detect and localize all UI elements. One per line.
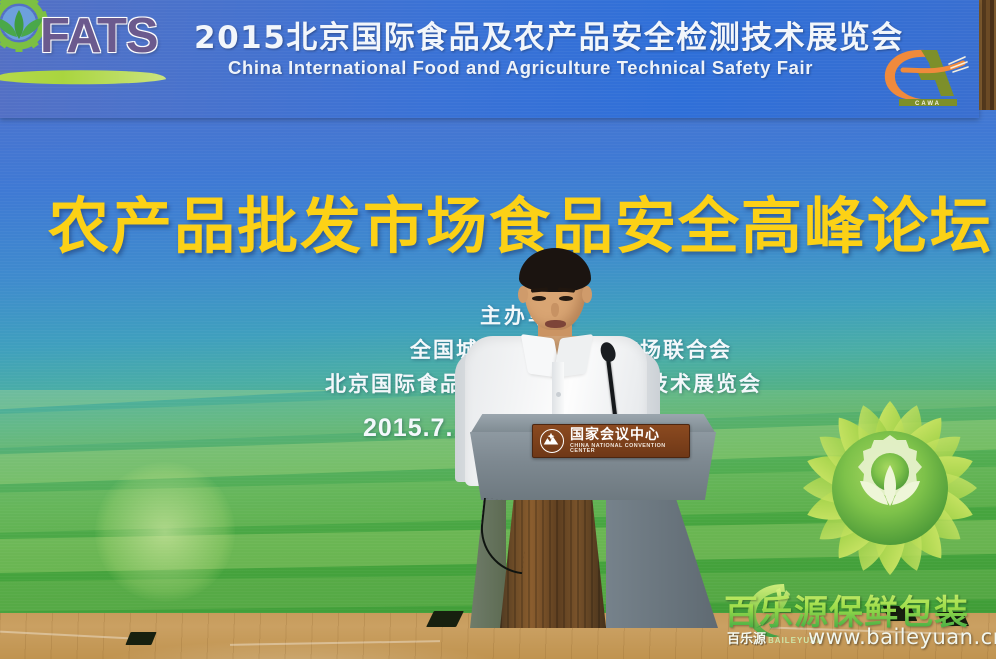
venue-name-en: CHINA NATIONAL CONVENTION CENTER: [570, 444, 682, 455]
speaker-eye-right: [559, 296, 573, 301]
venue-plaque: 国家会议中心 CHINA NATIONAL CONVENTION CENTER: [532, 424, 690, 458]
watermark-small-brand-cn: 百乐源: [727, 628, 766, 647]
speaker-nose: [551, 303, 559, 317]
fats-swoosh: [0, 68, 166, 90]
speaker-ear-left: [518, 286, 528, 303]
shirt-button: [556, 392, 561, 397]
speaker-ear-right: [582, 286, 592, 303]
fats-wordmark: FATS: [40, 8, 158, 64]
cawa-wheat-icon: CAWA: [877, 44, 977, 110]
svg-text:CAWA: CAWA: [915, 101, 941, 107]
sunflower-gear-plant-icon: [790, 393, 990, 588]
watermark-url: www.baileyuan.cn: [808, 625, 996, 649]
forum-main-title: 农产品批发市场食品安全高峰论坛: [48, 176, 993, 265]
backdrop-base-weight: [125, 632, 156, 645]
photo-canvas: 农产品批发市场食品安全高峰论坛 主办单位 全国城市农产品批发市场联合会 北京国际…: [0, 0, 996, 659]
fats-logo: FATS: [0, 0, 172, 108]
speaker-eye-left: [532, 296, 546, 301]
banner-title-cn: 2015北京国际食品及农产品安全检测技术展览会: [194, 12, 904, 57]
speaker-mouth: [545, 320, 566, 328]
ccc-mountain-star-icon: [540, 429, 564, 453]
venue-name-cn: 国家会议中心: [570, 428, 682, 442]
backdrop-glow-circle: [95, 462, 235, 602]
banner-title-en: China International Food and Agriculture…: [228, 57, 813, 79]
